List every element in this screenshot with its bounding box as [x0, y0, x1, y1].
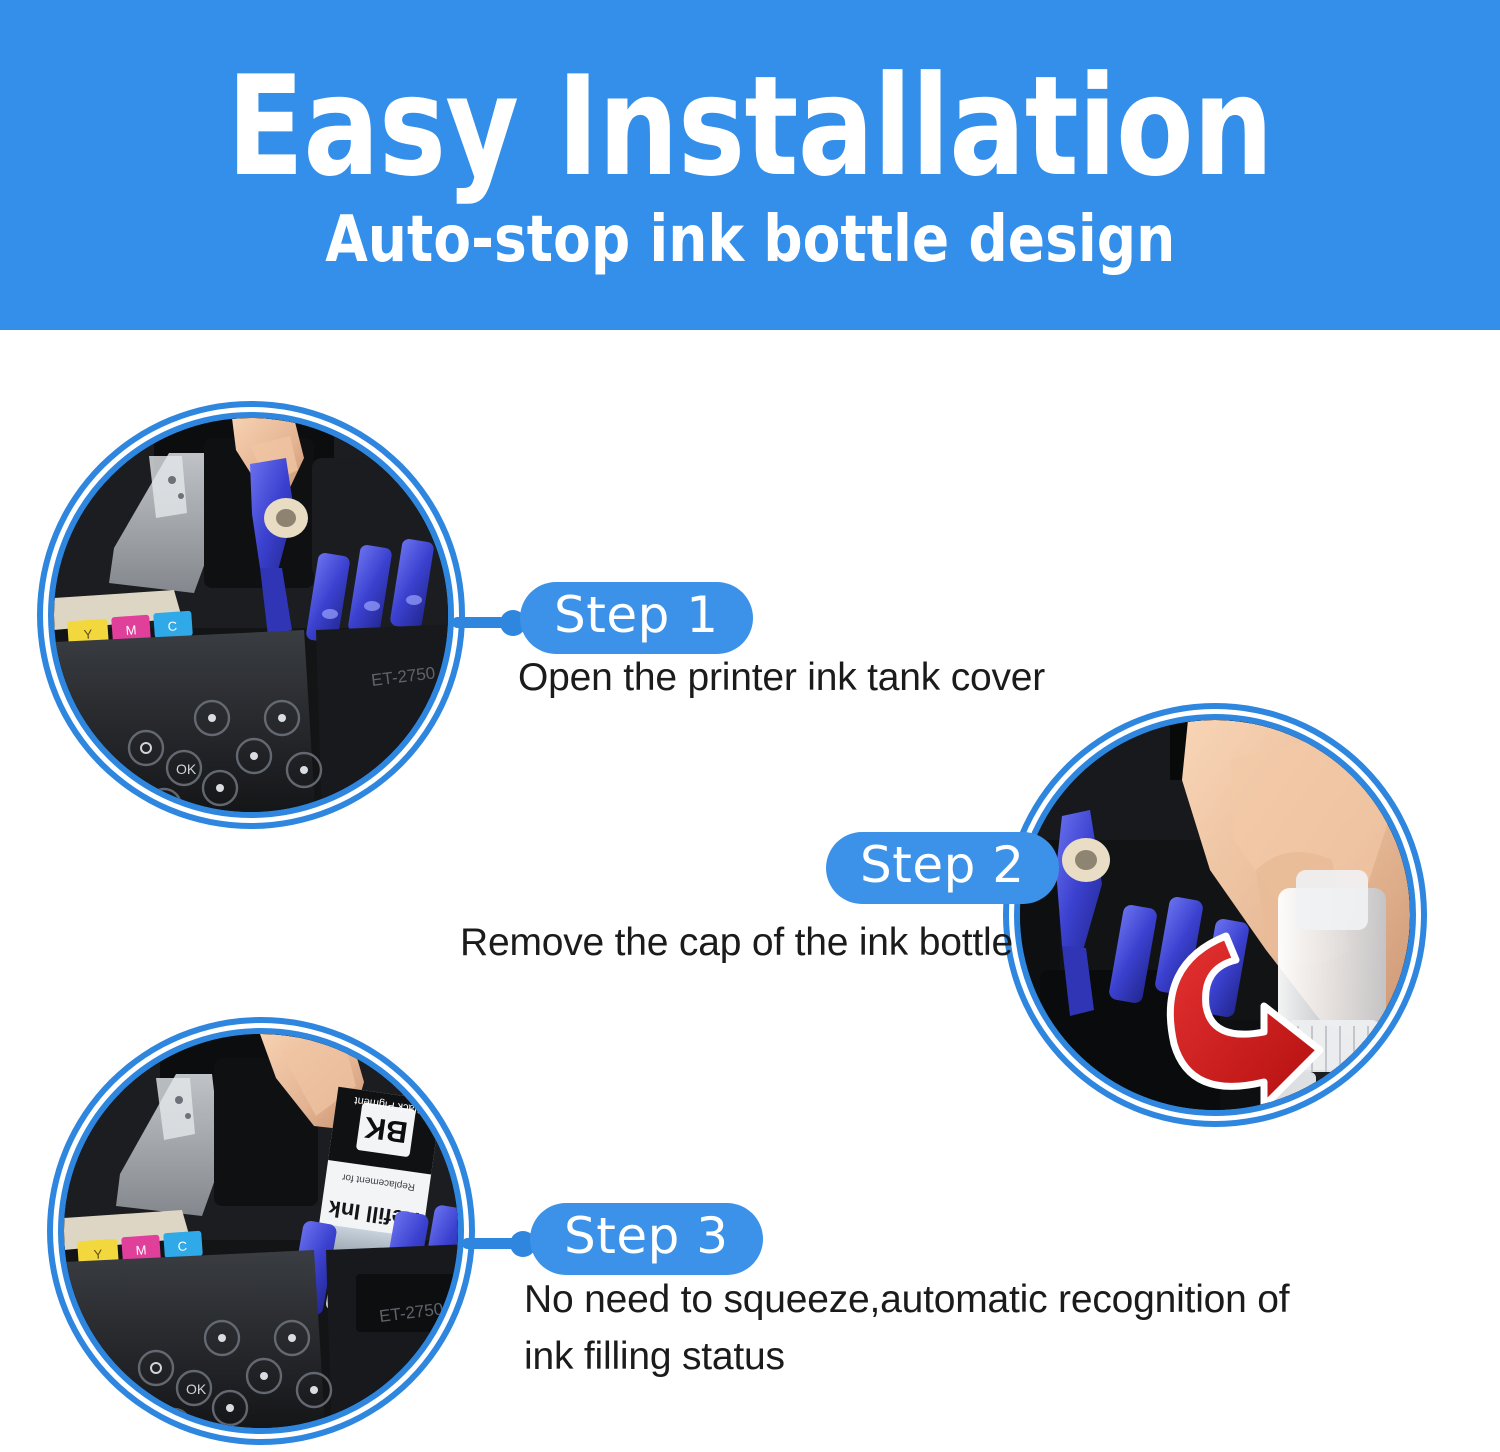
step-1-caption: Open the printer ink tank cover	[518, 650, 1278, 707]
step-2-badge[interactable]: Step 2	[826, 832, 1059, 904]
step-1-badge[interactable]: Step 1	[520, 582, 753, 654]
step-3-caption: No need to squeeze,automatic recognition…	[524, 1272, 1324, 1385]
svg-text:OK: OK	[176, 761, 197, 777]
step-3-photo: BK Black Pigment Refill Ink Replacement …	[58, 1028, 464, 1434]
svg-text:BK: BK	[362, 1110, 410, 1149]
svg-text:Y: Y	[83, 626, 93, 642]
step-3-photo-scene: BK Black Pigment Refill Ink Replacement …	[64, 1034, 458, 1428]
step-2-photo-scene	[1020, 720, 1410, 1110]
step-1-photo-scene: Y M C ET-2750	[54, 418, 448, 812]
step-1-photo: Y M C ET-2750	[48, 412, 454, 818]
remove-bottle-cap-illustration	[1020, 720, 1410, 1110]
svg-text:M: M	[135, 1242, 147, 1258]
svg-text:Y: Y	[93, 1246, 103, 1262]
refill-bottle-inserted-illustration: BK Black Pigment Refill Ink Replacement …	[64, 1034, 458, 1428]
svg-text:M: M	[125, 622, 137, 638]
page-subtitle: Auto-stop ink bottle design	[325, 208, 1175, 272]
svg-text:C: C	[177, 1238, 187, 1254]
svg-text:C: C	[167, 618, 177, 634]
step-2-photo	[1014, 714, 1416, 1116]
step-2-caption: Remove the cap of the ink bottle	[460, 915, 1060, 972]
step-3-badge[interactable]: Step 3	[530, 1203, 763, 1275]
printer-open-cover-illustration: Y M C ET-2750	[54, 418, 448, 812]
svg-text:OK: OK	[186, 1381, 207, 1397]
page-title: Easy Installation	[227, 58, 1273, 196]
header-banner: Easy Installation Auto-stop ink bottle d…	[0, 0, 1500, 330]
